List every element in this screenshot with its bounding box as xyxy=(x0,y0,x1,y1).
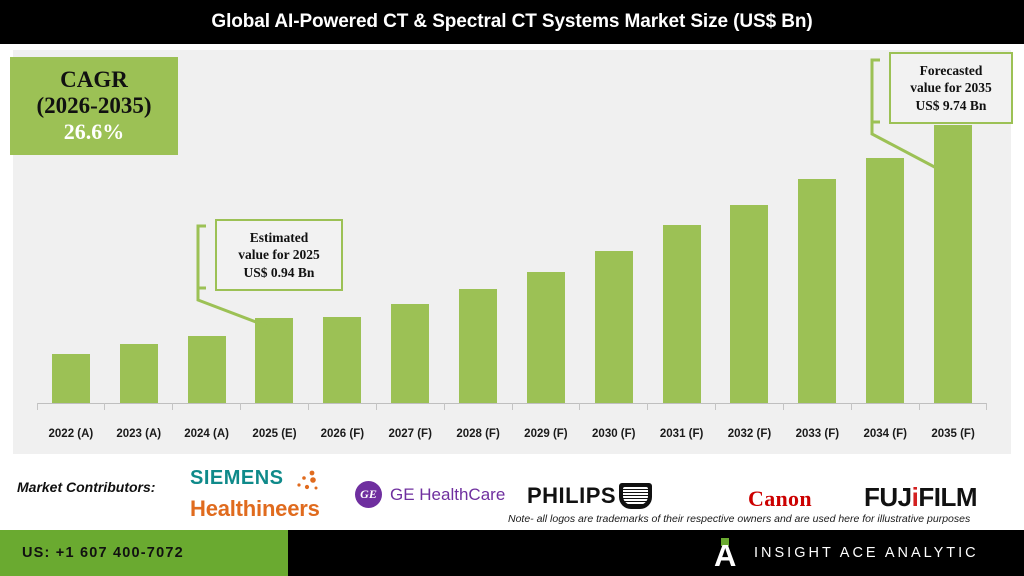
callout-est-line3: US$ 0.94 Bn xyxy=(244,264,315,282)
x-tick xyxy=(105,403,173,410)
bar-slot xyxy=(444,103,512,403)
bar-slot xyxy=(851,103,919,403)
x-label-2032: 2032 (F) xyxy=(716,428,784,440)
x-tick xyxy=(444,403,512,410)
callout-fc-line1: Forecasted xyxy=(920,62,983,80)
x-label-2033: 2033 (F) xyxy=(783,428,851,440)
philips-wordmark: PHILIPS xyxy=(527,483,616,509)
x-tick xyxy=(376,403,444,410)
bar-2033 xyxy=(798,179,836,403)
x-axis-ticks xyxy=(37,403,987,410)
bar-slot xyxy=(716,103,784,403)
canon-wordmark: Canon xyxy=(748,486,812,512)
brand-name: INSIGHT ACE ANALYTIC xyxy=(754,545,979,561)
bar-2030 xyxy=(595,251,633,403)
infographic-page: Global AI-Powered CT & Spectral CT Syste… xyxy=(0,0,1024,576)
x-label-2022: 2022 (A) xyxy=(37,428,105,440)
bar-slot xyxy=(648,103,716,403)
bar-2025 xyxy=(255,318,293,403)
healthineers-wordmark: Healthineers xyxy=(190,497,320,520)
bar-slot xyxy=(580,103,648,403)
bar-slot xyxy=(376,103,444,403)
x-label-2024: 2024 (A) xyxy=(173,428,241,440)
x-label-2035: 2035 (F) xyxy=(919,428,987,440)
x-label-2030: 2030 (F) xyxy=(580,428,648,440)
x-tick xyxy=(580,403,648,410)
x-label-2031: 2031 (F) xyxy=(648,428,716,440)
callout-fc-line2: value for 2035 xyxy=(910,79,992,97)
contributors-label: Market Contributors: xyxy=(17,479,155,495)
callout-estimated-2025: Estimated value for 2025 US$ 0.94 Bn xyxy=(215,219,343,291)
logo-siemens-healthineers: SIEMENS Healthineers xyxy=(190,468,320,520)
x-tick xyxy=(783,403,851,410)
x-axis-labels: 2022 (A)2023 (A)2024 (A)2025 (E)2026 (F)… xyxy=(37,428,987,440)
x-label-2028: 2028 (F) xyxy=(444,428,512,440)
ge-healthcare-wordmark: GE HealthCare xyxy=(390,485,505,505)
x-tick xyxy=(37,403,105,410)
footer-brand-block: A INSIGHT ACE ANALYTIC xyxy=(714,530,979,576)
x-tick xyxy=(173,403,241,410)
x-tick xyxy=(919,403,987,410)
x-label-2026: 2026 (F) xyxy=(308,428,376,440)
bar-2024 xyxy=(188,336,226,403)
bar-2034 xyxy=(866,158,904,403)
bar-2027 xyxy=(391,304,429,403)
bar-slot xyxy=(512,103,580,403)
bar-slot xyxy=(919,103,987,403)
logo-fujifilm: FUJiFILM xyxy=(864,482,977,513)
philips-shield-icon xyxy=(619,483,652,509)
cagr-value: 26.6% xyxy=(64,119,125,145)
x-label-2029: 2029 (F) xyxy=(512,428,580,440)
cagr-badge: CAGR (2026-2035) 26.6% xyxy=(10,57,178,155)
philips-shield-inner xyxy=(623,487,648,505)
footer-contact-block: US: +1 607 400-7072 xyxy=(0,530,288,576)
fujifilm-post: FILM xyxy=(918,482,977,512)
logo-canon: Canon xyxy=(748,486,812,512)
x-label-2027: 2027 (F) xyxy=(376,428,444,440)
bar-2029 xyxy=(527,272,565,403)
bar-slot xyxy=(783,103,851,403)
trademark-note: Note- all logos are trademarks of their … xyxy=(508,513,970,525)
x-label-2023: 2023 (A) xyxy=(105,428,173,440)
x-tick xyxy=(716,403,784,410)
bar-series xyxy=(37,103,987,403)
siemens-dots-icon xyxy=(290,470,320,497)
bar-2023 xyxy=(120,344,158,403)
bar-2035 xyxy=(934,125,972,403)
x-tick xyxy=(851,403,919,410)
bar-2022 xyxy=(52,354,90,403)
callout-fc-line3: US$ 9.74 Bn xyxy=(916,97,987,115)
bar-2026 xyxy=(323,317,361,403)
ge-monogram-icon: GE xyxy=(355,481,382,508)
x-label-2034: 2034 (F) xyxy=(851,428,919,440)
insightace-logo-icon: A xyxy=(714,538,738,568)
bar-2028 xyxy=(459,289,497,403)
brand-letter: A xyxy=(714,543,736,568)
callout-est-line2: value for 2025 xyxy=(238,246,320,264)
footer-bar: US: +1 607 400-7072 A INSIGHT ACE ANALYT… xyxy=(0,530,1024,576)
cagr-period: (2026-2035) xyxy=(37,93,152,119)
siemens-wordmark: SIEMENS xyxy=(190,468,284,488)
logo-ge-healthcare: GE GE HealthCare xyxy=(355,481,505,508)
logo-philips: PHILIPS xyxy=(527,483,652,509)
x-tick xyxy=(308,403,376,410)
fujifilm-wordmark: FUJiFILM xyxy=(864,482,977,513)
header-bar: Global AI-Powered CT & Spectral CT Syste… xyxy=(0,0,1024,44)
x-tick xyxy=(241,403,309,410)
bar-2031 xyxy=(663,225,701,403)
callout-est-line1: Estimated xyxy=(250,229,309,247)
x-tick xyxy=(648,403,716,410)
footer-phone: US: +1 607 400-7072 xyxy=(22,545,184,561)
x-label-2025: 2025 (E) xyxy=(241,428,309,440)
fujifilm-pre: FUJ xyxy=(864,482,912,512)
bar-2032 xyxy=(730,205,768,403)
callout-forecasted-2035: Forecasted value for 2035 US$ 9.74 Bn xyxy=(889,52,1013,124)
cagr-label: CAGR xyxy=(60,67,128,93)
page-title: Global AI-Powered CT & Spectral CT Syste… xyxy=(211,11,812,33)
x-tick xyxy=(512,403,580,410)
